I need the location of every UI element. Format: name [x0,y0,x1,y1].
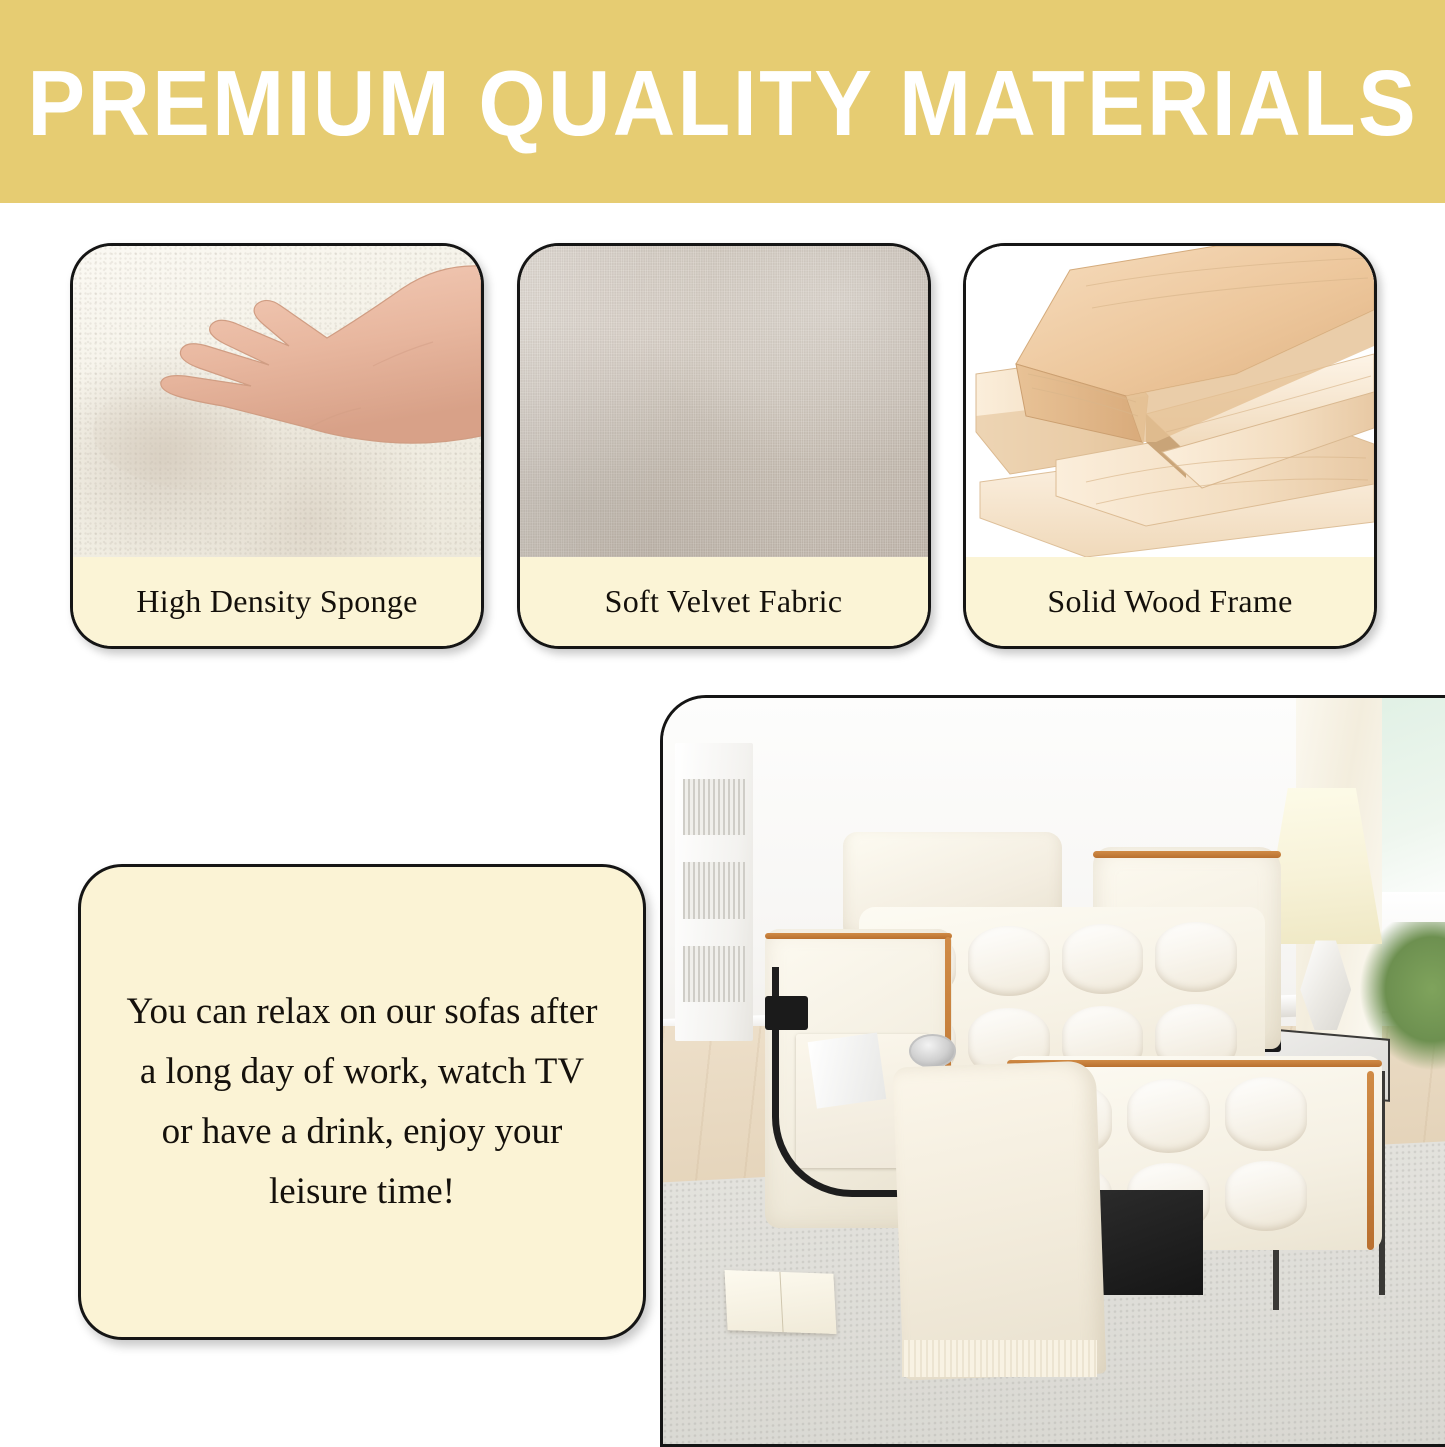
sofa-mechanism [1093,1190,1202,1294]
shelf-cabinet [675,743,753,1041]
material-cards-row: High Density Sponge Soft Velvet Fabric [70,243,1377,643]
blanket-fringe [902,1340,1098,1377]
material-card-velvet[interactable]: Soft Velvet Fabric [517,243,931,649]
tuft [1225,1161,1308,1231]
velvet-label-band: Soft Velvet Fabric [520,557,928,646]
velvet-photo [520,246,928,557]
tuft [1155,922,1236,992]
wood-photo [966,246,1374,557]
tuft [968,926,1049,996]
shelf-basket [683,946,746,1003]
tuft [1062,924,1143,994]
page-title: PREMIUM QUALITY MATERIALS [27,57,1418,150]
material-label: High Density Sponge [136,583,417,620]
wood-label-band: Solid Wood Frame [966,557,1374,646]
material-card-sponge[interactable]: High Density Sponge [70,243,484,649]
relax-blurb-card: You can relax on our sofas after a long … [78,864,646,1340]
sponge-label-band: High Density Sponge [73,557,481,646]
room-photo [660,695,1445,1447]
hand-icon [73,246,481,557]
shelf-basket [683,862,746,919]
material-card-wood[interactable]: Solid Wood Frame [963,243,1377,649]
wood-planks [966,246,1374,557]
tuft [1127,1079,1210,1153]
throw-blanket [892,1060,1106,1380]
shelf-basket [683,779,746,836]
power-plug [765,996,808,1030]
blurb-text: You can relax on our sofas after a long … [81,982,643,1222]
header-banner: PREMIUM QUALITY MATERIALS [0,0,1445,203]
velvet-texture [520,246,928,557]
tuft [1225,1077,1308,1151]
material-label: Solid Wood Frame [1047,583,1292,620]
piping-trim [1367,1071,1374,1250]
sponge-photo [73,246,481,557]
piping-trim [1093,851,1281,858]
material-label: Soft Velvet Fabric [605,583,843,620]
piping-trim [765,933,953,939]
open-book [724,1270,836,1334]
